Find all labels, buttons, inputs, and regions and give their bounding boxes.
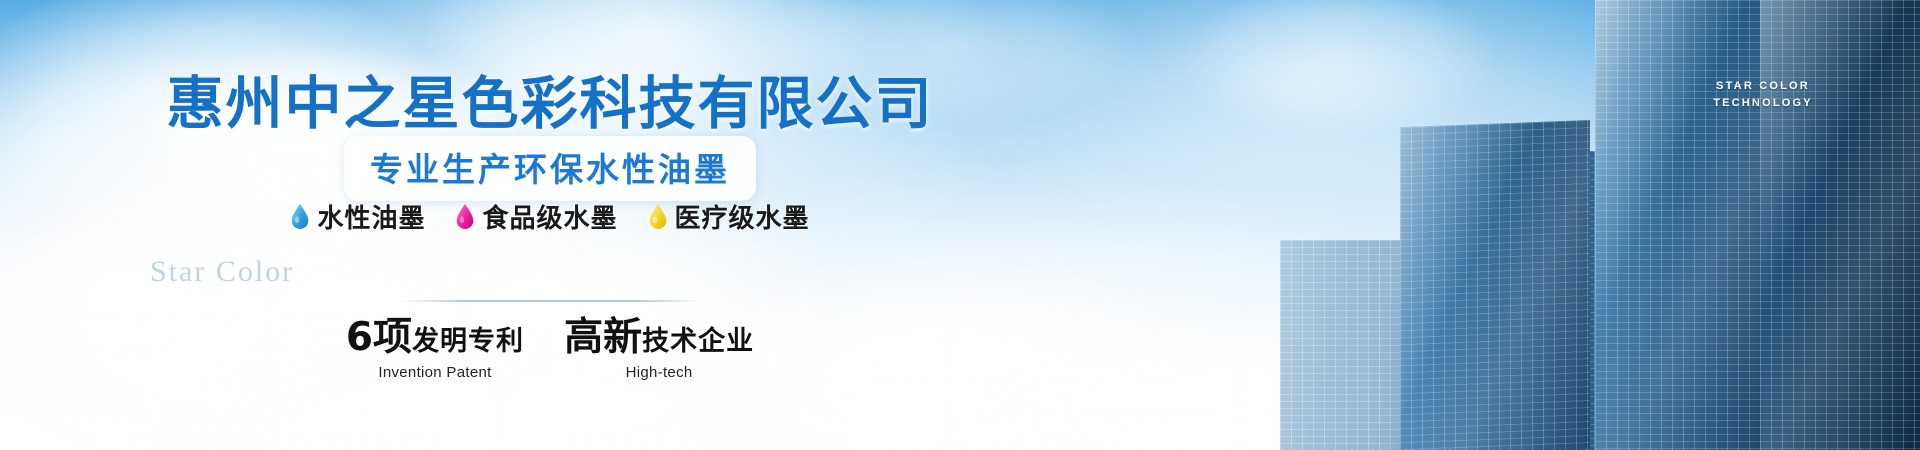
water-drop-icon: [455, 203, 475, 230]
building-right-tower: [1760, 0, 1920, 450]
section-divider: [400, 300, 700, 302]
certification-item-hightech: 高新技术企业 High-tech: [564, 318, 754, 381]
building-center-tower: [1595, 0, 1770, 450]
certification-subtext: 技术企业: [642, 326, 754, 357]
certification-en-label: High-tech: [564, 364, 754, 381]
certification-title: 6项发明专利: [346, 318, 524, 357]
hero-banner: Star Color STAR COLOR TECHNOLOGY 惠州中之星色彩…: [0, 0, 1920, 450]
list-item: 医疗级水墨: [648, 198, 810, 235]
certification-highlight: 高新: [564, 315, 642, 360]
product-list: 水性油墨 食品级水墨: [0, 198, 1100, 235]
skyline-illustration: [1040, 0, 1920, 450]
building-brand-line-1: STAR COLOR: [1688, 78, 1838, 95]
certification-list: 6项发明专利 Invention Patent 高新技术企业 High-tech: [0, 318, 1100, 381]
building-left-tower: [1400, 120, 1590, 450]
certification-title: 高新技术企业: [564, 318, 754, 357]
company-title: 惠州中之星色彩科技有限公司: [0, 58, 1100, 140]
list-item: 水性油墨: [290, 198, 425, 235]
list-item: 食品级水墨: [455, 198, 617, 235]
tagline-badge-wrapper: 专业生产环保水性油墨: [0, 136, 1100, 201]
building-brand-line-2: TECHNOLOGY: [1688, 95, 1838, 112]
water-drop-icon: [290, 203, 310, 230]
certification-en-label: Invention Patent: [346, 364, 524, 381]
product-label: 水性油墨: [317, 198, 425, 235]
building-brand-label: STAR COLOR TECHNOLOGY: [1688, 78, 1838, 112]
water-drop-icon: [648, 203, 668, 230]
building-far-1: [1280, 240, 1400, 450]
certification-item-patent: 6项发明专利 Invention Patent: [346, 318, 524, 381]
banner-content: 惠州中之星色彩科技有限公司 专业生产环保水性油墨 水性油墨: [0, 0, 1100, 450]
product-label: 食品级水墨: [482, 198, 617, 235]
product-label: 医疗级水墨: [675, 198, 810, 235]
tagline-badge: 专业生产环保水性油墨: [344, 136, 756, 201]
certification-highlight: 6项: [346, 315, 412, 360]
certification-subtext: 发明专利: [412, 326, 524, 357]
